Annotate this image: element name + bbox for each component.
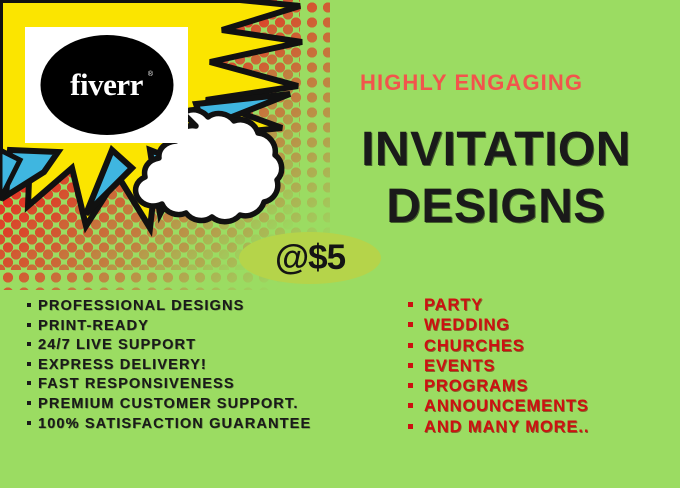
fiverr-logo: fiverr ® [25,27,188,143]
list-item: PROFESSIONAL DESIGNS [27,297,311,317]
bullet-icon [27,323,31,327]
list-item-label: EVENTS [424,356,495,376]
poster-canvas: fiverr ® HIGHLY ENGAGING INVITATION DESI… [0,0,680,488]
headline-line-2: DESIGNS [318,179,674,236]
list-item-label: AND MANY MORE.. [424,417,589,437]
categories-list: PARTY WEDDING CHURCHES EVENTS PROGRAMS A… [408,295,589,437]
list-item: CHURCHES [408,336,589,356]
bullet-icon [27,362,31,366]
list-item: PROGRAMS [408,376,589,396]
list-item: ANNOUNCEMENTS [408,396,589,416]
bullet-icon [27,303,31,307]
list-item: EXPRESS DELIVERY! [27,356,311,376]
bullet-icon [27,421,31,425]
list-item: AND MANY MORE.. [408,417,589,437]
price-badge-label: @$5 [239,232,381,284]
bullet-icon [27,342,31,346]
list-item-label: PARTY [424,295,483,315]
list-item-label: 100% SATISFACTION GUARANTEE [38,415,311,435]
bullet-icon [408,403,413,408]
list-item: 100% SATISFACTION GUARANTEE [27,415,311,435]
list-item-label: PREMIUM CUSTOMER SUPPORT. [38,395,299,415]
list-item-label: CHURCHES [424,336,525,356]
features-list: PROFESSIONAL DESIGNS PRINT-READY 24/7 LI… [27,297,311,434]
bullet-icon [27,401,31,405]
list-item: PREMIUM CUSTOMER SUPPORT. [27,395,311,415]
bullet-icon [408,343,413,348]
bullet-icon [408,302,413,307]
headline-line-1: INVITATION [361,123,631,176]
kicker-text: HIGHLY ENGAGING [360,70,660,96]
fiverr-wordmark: fiverr [70,67,143,103]
fiverr-logo-ellipse: fiverr ® [40,35,173,135]
list-item: EVENTS [408,356,589,376]
list-item: PARTY [408,295,589,315]
list-item-label: ANNOUNCEMENTS [424,396,589,416]
list-item: WEDDING [408,315,589,335]
bullet-icon [408,363,413,368]
list-item-label: EXPRESS DELIVERY! [38,356,207,376]
list-item: 24/7 LIVE SUPPORT [27,336,311,356]
list-item-label: PROGRAMS [424,376,528,396]
list-item: PRINT-READY [27,317,311,337]
list-item-label: WEDDING [424,315,510,335]
bullet-icon [408,383,413,388]
list-item-label: PRINT-READY [38,317,149,337]
list-item: FAST RESPONSIVENESS [27,375,311,395]
bullet-icon [27,381,31,385]
page-title: INVITATION DESIGNS [318,122,674,235]
list-item-label: PROFESSIONAL DESIGNS [38,297,244,317]
list-item-label: FAST RESPONSIVENESS [38,375,235,395]
bullet-icon [408,322,413,327]
bullet-icon [408,424,413,429]
registered-mark-icon: ® [148,71,153,78]
list-item-label: 24/7 LIVE SUPPORT [38,336,196,356]
